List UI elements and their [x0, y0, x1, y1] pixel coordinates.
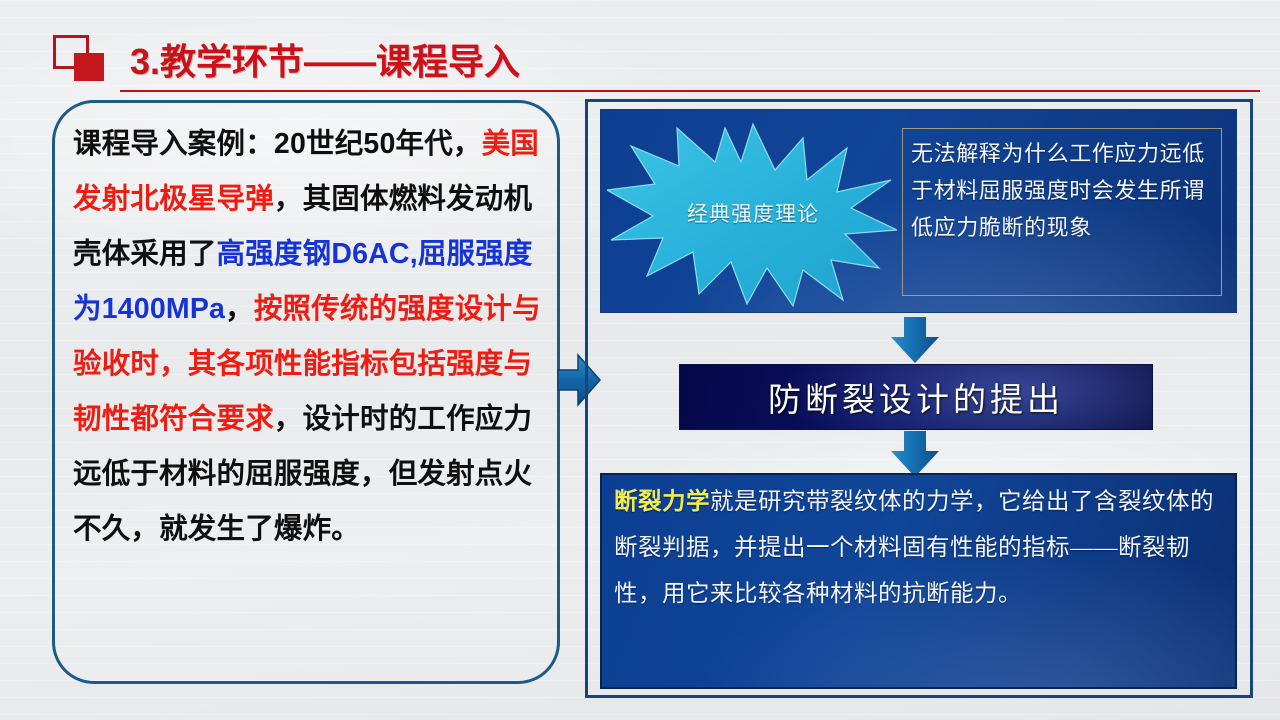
header-decor-icon: [53, 35, 107, 81]
intro-segment-5: ，: [225, 293, 254, 325]
arrow-down-icon-2: [889, 429, 941, 479]
header-divider: [120, 90, 1260, 92]
theory-explanation-box: 经典强度理论 无法解释为什么工作应力远低于材料屈服强度时会发生所谓低应力脆断的现…: [600, 109, 1237, 313]
theory-note-text: 无法解释为什么工作应力远低于材料屈服强度时会发生所谓低应力脆断的现象: [911, 135, 1213, 246]
starburst-label: 经典强度理论: [653, 198, 853, 228]
intro-segment-1: 课程导入案例：20世纪50年代，: [73, 128, 482, 160]
square-filled-icon: [74, 53, 104, 81]
fracture-design-banner: 防断裂设计的提出: [679, 364, 1153, 430]
page-title: 3.教学环节——课程导入: [130, 33, 520, 85]
left-text-panel: 课程导入案例：20世纪50年代，美国发射北极星导弹，其固体燃料发动机壳体采用了高…: [52, 100, 560, 684]
arrow-down-icon-1: [889, 315, 941, 365]
fracture-mechanics-highlight: 断裂力学: [614, 489, 710, 515]
theory-note-box: 无法解释为什么工作应力远低于材料屈服强度时会发生所谓低应力脆断的现象: [902, 128, 1222, 296]
slide-canvas: 3.教学环节——课程导入 课程导入案例：20世纪50年代，美国发射北极星导弹，其…: [0, 0, 1280, 720]
slide-header: 3.教学环节——课程导入: [0, 0, 1280, 98]
right-diagram-panel: 经典强度理论 无法解释为什么工作应力远低于材料屈服强度时会发生所谓低应力脆断的现…: [585, 99, 1253, 698]
fracture-mechanics-box: 断裂力学就是研究带裂纹体的力学，它给出了含裂纹体的断裂判据，并提出一个材料固有性…: [600, 473, 1237, 689]
fracture-design-banner-text: 防断裂设计的提出: [768, 373, 1064, 421]
fracture-mechanics-paragraph: 断裂力学就是研究带裂纹体的力学，它给出了含裂纹体的断裂判据，并提出一个材料固有性…: [614, 479, 1225, 617]
course-intro-paragraph: 课程导入案例：20世纪50年代，美国发射北极星导弹，其固体燃料发动机壳体采用了高…: [73, 117, 541, 557]
